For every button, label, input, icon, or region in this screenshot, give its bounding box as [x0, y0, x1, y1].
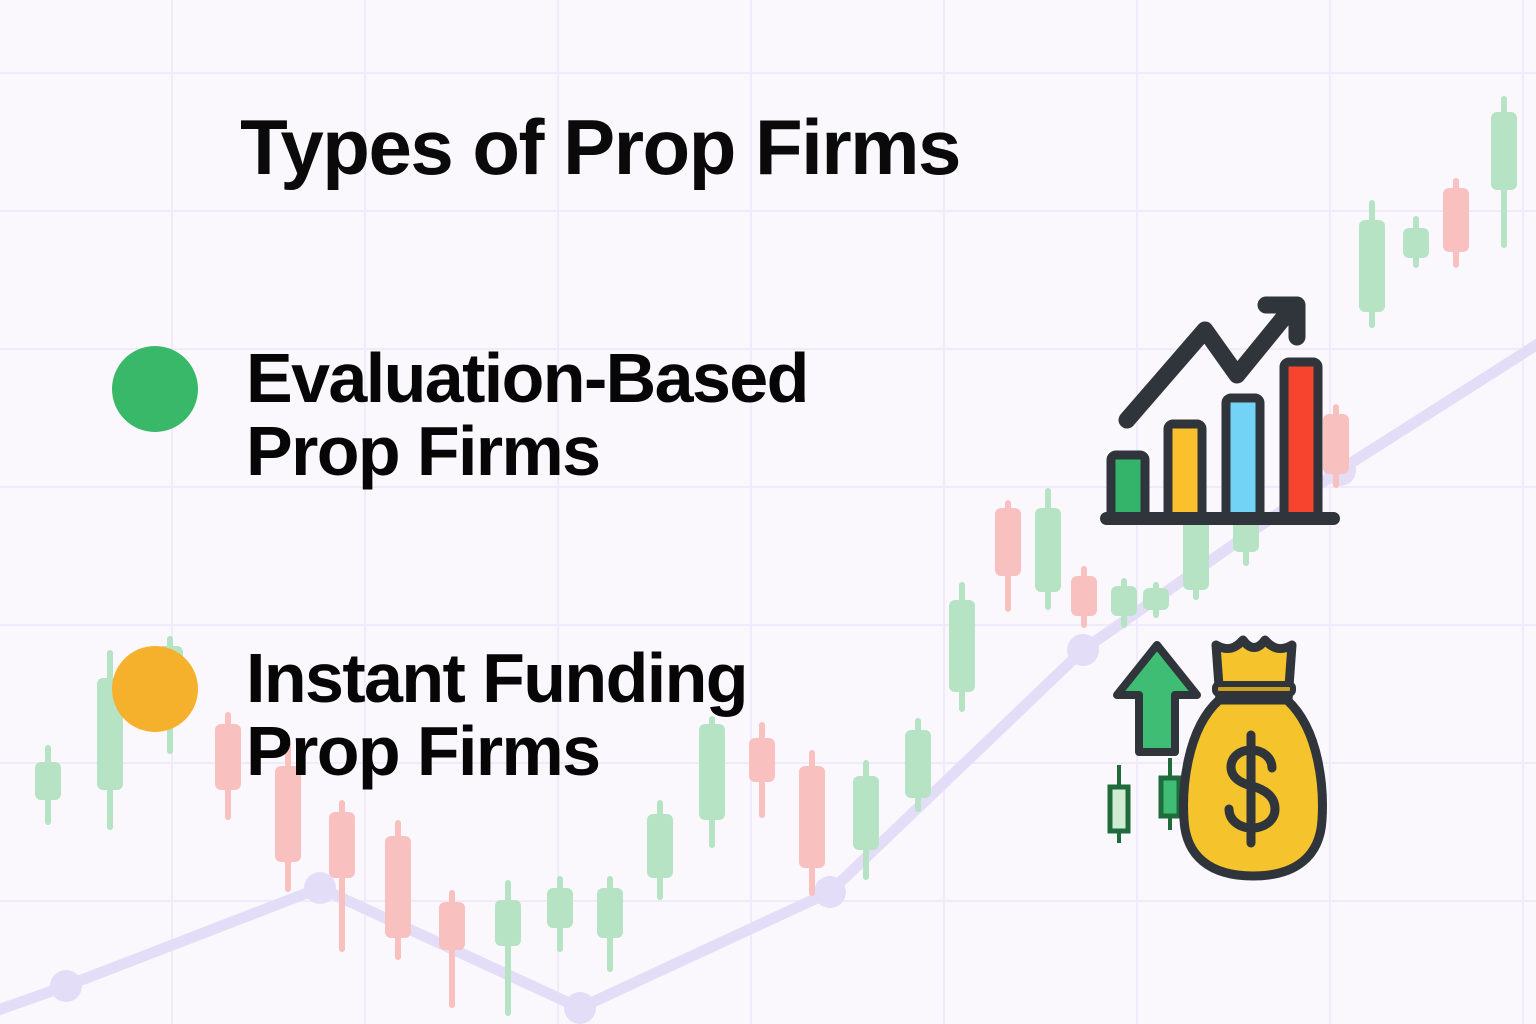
- money-bag-icon: [1110, 640, 1322, 876]
- money-bag-neck: [1215, 640, 1293, 700]
- small-candle-left-icon: [1110, 765, 1128, 843]
- bar-chart-bar-blue: [1226, 398, 1260, 518]
- green-up-arrow-icon: [1117, 645, 1197, 752]
- bar-chart-baseline: [1100, 512, 1340, 525]
- bar-chart-bar-yellow: [1168, 424, 1202, 518]
- small-candle-right-icon: [1161, 758, 1179, 830]
- upward-zigzag-arrow-icon: [1127, 305, 1297, 420]
- bar-chart-bar-red: [1284, 362, 1318, 518]
- bar-chart-growth-icon: [1100, 305, 1340, 525]
- infographic-canvas: Types of Prop Firms Evaluation-Based Pro…: [0, 0, 1536, 1024]
- icon-layer: [0, 0, 1536, 1024]
- bar-chart-bar-green: [1111, 455, 1145, 518]
